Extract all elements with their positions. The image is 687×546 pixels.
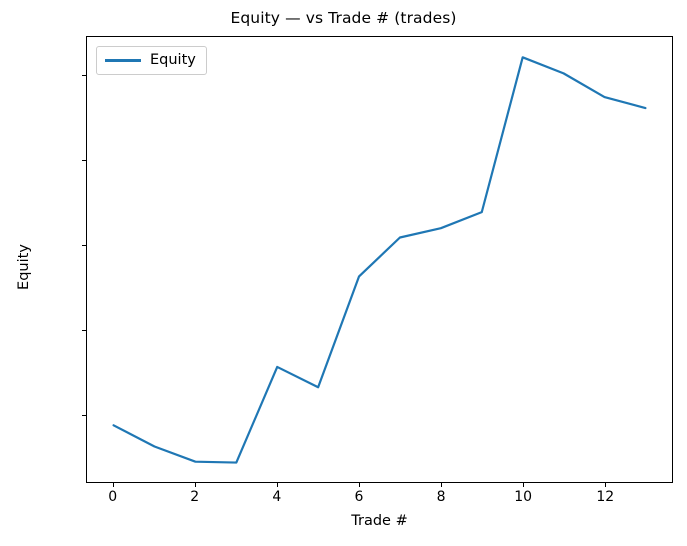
x-tick-mark: [113, 483, 114, 487]
plot-area: [86, 36, 673, 483]
x-tick-label: 8: [421, 489, 461, 505]
x-tick-mark: [359, 483, 360, 487]
y-tick-mark: [82, 245, 86, 246]
x-tick-mark: [195, 483, 196, 487]
x-tick-mark: [277, 483, 278, 487]
legend-line-swatch: [105, 59, 141, 62]
equity-line-series: [114, 57, 646, 462]
y-tick-mark: [82, 415, 86, 416]
x-tick-label: 10: [503, 489, 543, 505]
x-axis-label: Trade #: [86, 513, 673, 529]
x-tick-label: 2: [175, 489, 215, 505]
x-tick-mark: [441, 483, 442, 487]
legend-label: Equity: [150, 53, 196, 68]
equity-chart-figure: Equity — vs Trade # (trades) 20021022023…: [0, 0, 687, 546]
x-tick-mark: [523, 483, 524, 487]
chart-legend: Equity: [96, 46, 207, 75]
x-tick-label: 4: [257, 489, 297, 505]
y-tick-mark: [82, 330, 86, 331]
x-tick-label: 12: [585, 489, 625, 505]
x-tick-mark: [605, 483, 606, 487]
x-tick-label: 0: [93, 489, 133, 505]
chart-title: Equity — vs Trade # (trades): [0, 9, 687, 27]
equity-line-svg: [87, 37, 672, 482]
y-tick-mark: [82, 160, 86, 161]
x-tick-label: 6: [339, 489, 379, 505]
y-tick-mark: [82, 75, 86, 76]
y-axis-label: Equity: [16, 207, 32, 327]
